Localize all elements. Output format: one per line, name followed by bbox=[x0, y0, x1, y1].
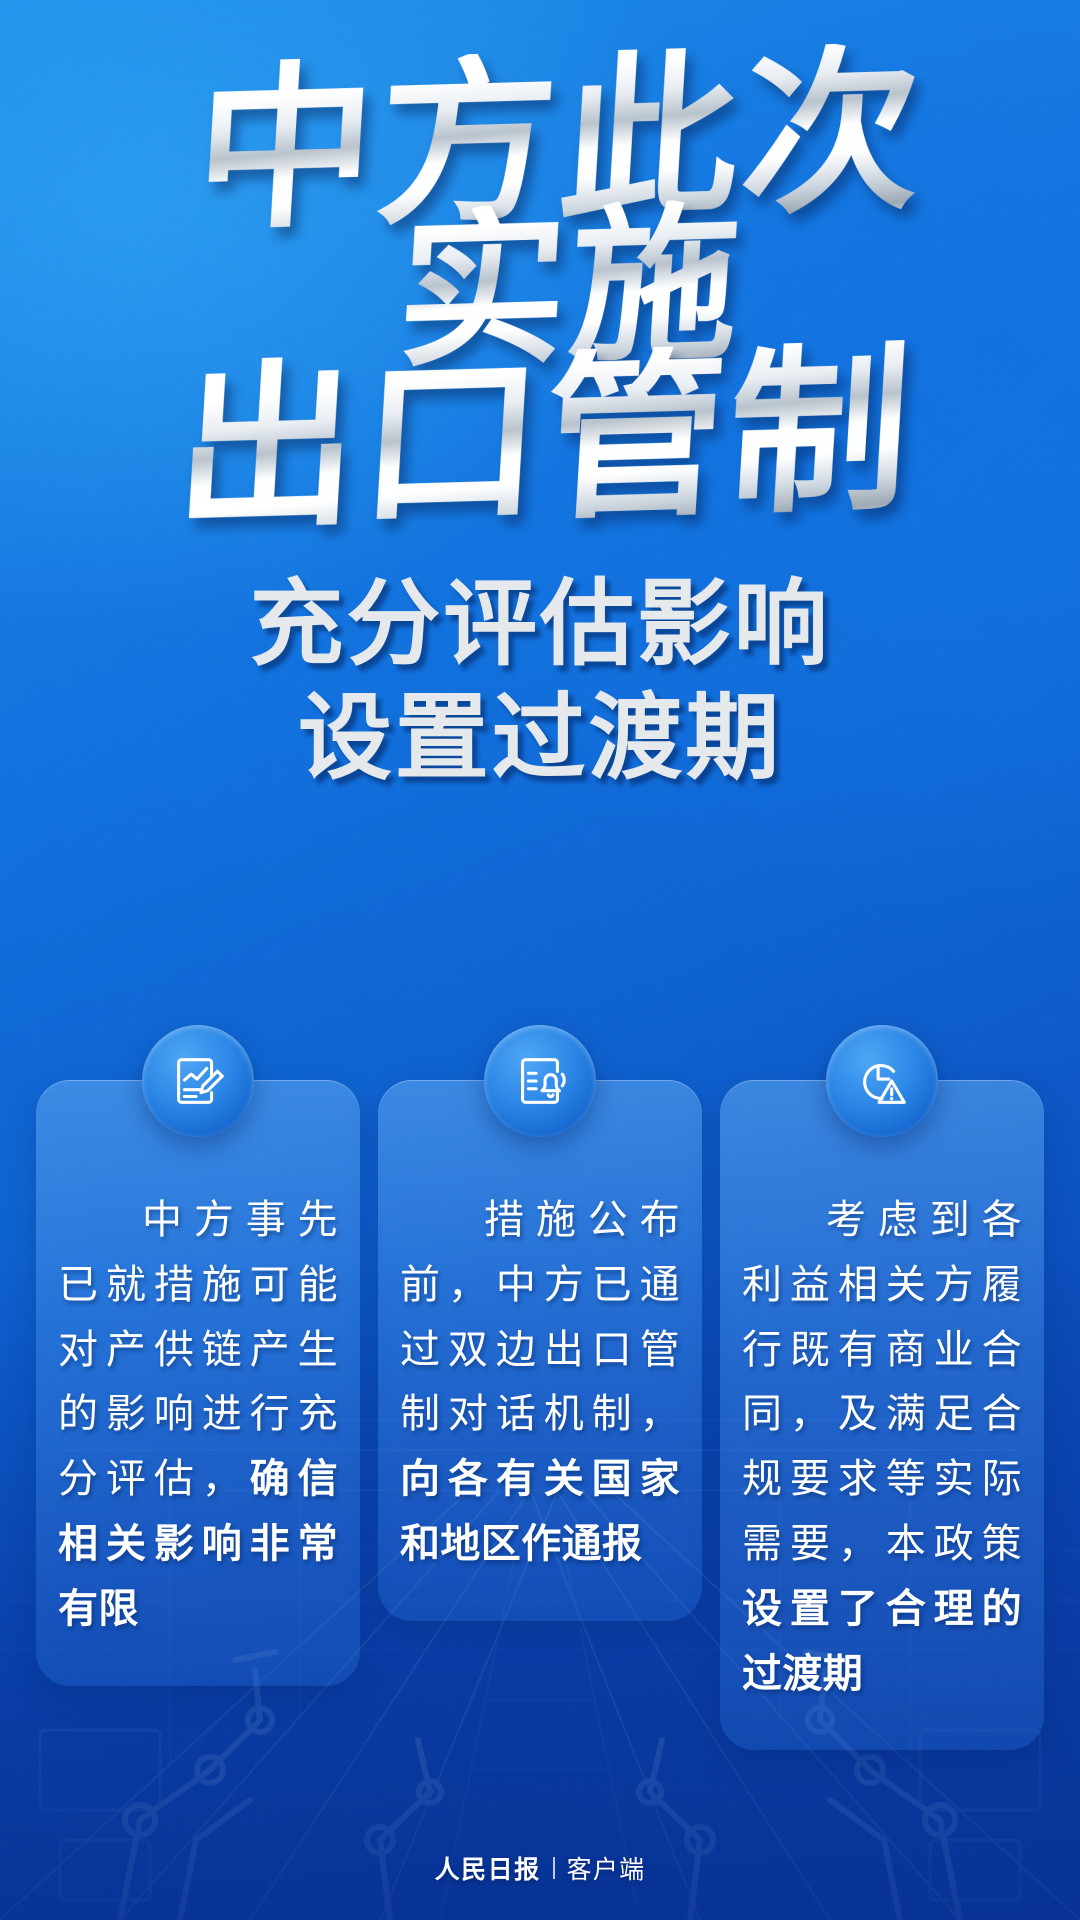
notification-document-icon bbox=[484, 1025, 596, 1137]
clock-warning-icon bbox=[826, 1025, 938, 1137]
info-card-2: 措施公布前，中方已通过双边出口管制对话机制，向各有关国家和地区作通报 bbox=[378, 1080, 702, 1621]
poster-root: 中方此次 实施 出口管制 充分评估影响 设置过渡期 中方事先已就措施可能对产供链… bbox=[0, 0, 1080, 1920]
info-card-3: 考虑到各利益相关方履行既有商业合同，及满足合规要求等实际需要，本政策设置了合理的… bbox=[720, 1080, 1044, 1750]
card-3-highlight: 设置了合理的过渡期 bbox=[742, 1586, 1022, 1697]
info-card-3-text: 考虑到各利益相关方履行既有商业合同，及满足合规要求等实际需要，本政策设置了合理的… bbox=[742, 1188, 1022, 1706]
card-2-lead: 措施公布 bbox=[400, 1197, 680, 1243]
card-2-body: 前，中方已通过双边出口管制对话机制， bbox=[400, 1262, 680, 1438]
title-line-3: 出口管制 bbox=[0, 335, 1080, 545]
card-3-body: 利益相关方履行既有商业合同，及满足合规要求等实际需要，本政策 bbox=[742, 1262, 1022, 1567]
footer-branding: 人民日报 客户端 bbox=[0, 1850, 1080, 1886]
subtitle-line-2: 设置过渡期 bbox=[0, 688, 1080, 790]
card-2-highlight: 向各有关国家和地区作通报 bbox=[400, 1456, 680, 1567]
publisher-logo: 人民日报 bbox=[435, 1850, 541, 1886]
info-card-list: 中方事先已就措施可能对产供链产生的影响进行充分评估，确信相关影响非常有限 措施公… bbox=[36, 1080, 1044, 1750]
poster-title-block: 中方此次 实施 出口管制 充分评估影响 设置过渡期 bbox=[0, 52, 1080, 789]
card-3-lead: 考虑到各 bbox=[742, 1197, 1022, 1243]
info-card-2-text: 措施公布前，中方已通过双边出口管制对话机制，向各有关国家和地区作通报 bbox=[400, 1188, 680, 1577]
app-name-label: 客户端 bbox=[567, 1850, 646, 1886]
assessment-report-icon bbox=[142, 1025, 254, 1137]
footer-divider bbox=[553, 1857, 555, 1879]
card-1-lead: 中方事先 bbox=[58, 1197, 338, 1243]
info-card-1-text: 中方事先已就措施可能对产供链产生的影响进行充分评估，确信相关影响非常有限 bbox=[58, 1188, 338, 1642]
subtitle-line-1: 充分评估影响 bbox=[0, 574, 1080, 676]
info-card-1: 中方事先已就措施可能对产供链产生的影响进行充分评估，确信相关影响非常有限 bbox=[36, 1080, 360, 1686]
